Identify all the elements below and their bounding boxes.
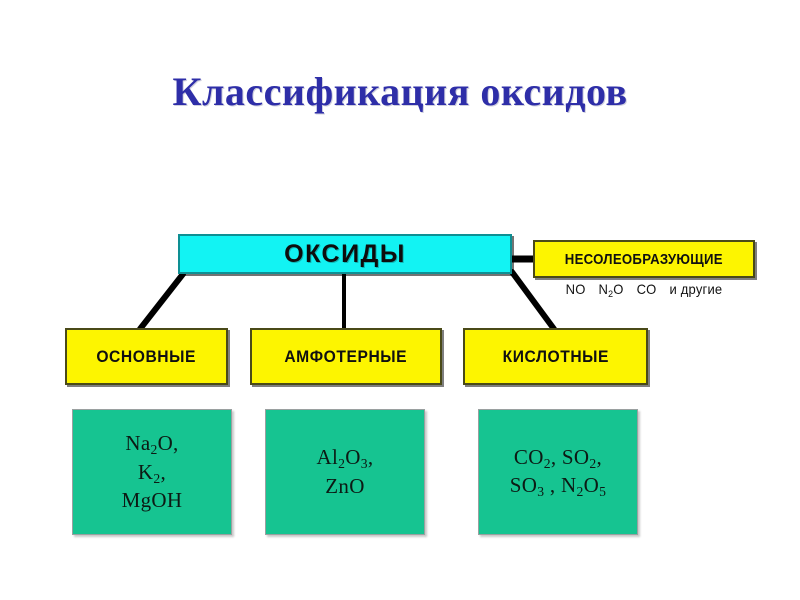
example-box-basic: Na2O, K2, MgOH [72, 409, 232, 535]
non-salt-forming-examples: NON2OCOи другие [541, 281, 747, 300]
connector-root-to-basic [140, 274, 183, 329]
slide-canvas: Классификация оксидов ОКСИДЫ НЕСОЛЕОБРАЗ… [0, 0, 800, 600]
category-box-non-salt-forming[interactable]: НЕСОЛЕОБРАЗУЮЩИЕ [533, 240, 755, 278]
category-label-amphoteric: АМФОТЕРНЫЕ [285, 347, 408, 367]
category-box-basic[interactable]: ОСНОВНЫЕ [65, 328, 228, 385]
example-n2o: N2O [599, 281, 624, 297]
category-label-acidic: КИСЛОТНЫЕ [502, 347, 608, 367]
category-box-amphoteric[interactable]: АМФОТЕРНЫЕ [250, 328, 442, 385]
root-box-oxides[interactable]: ОКСИДЫ [178, 234, 512, 274]
example-others: и другие [670, 281, 723, 297]
root-box-label: ОКСИДЫ [284, 240, 406, 269]
category-label-basic: ОСНОВНЫЕ [97, 347, 197, 367]
example-formulas-basic: Na2O, K2, MgOH [122, 430, 183, 513]
example-co: CO [637, 281, 657, 297]
category-box-acidic[interactable]: КИСЛОТНЫЕ [463, 328, 648, 385]
example-formulas-amphoteric: Al2O3, ZnO [317, 444, 374, 499]
example-box-acidic: CO2, SO2, SO3 , N2O5 [478, 409, 638, 535]
example-no: NO [566, 281, 586, 297]
page-title: Классификация оксидов [0, 68, 800, 115]
category-label-non-salt-forming: НЕСОЛЕОБРАЗУЮЩИЕ [565, 251, 723, 268]
example-box-amphoteric: Al2O3, ZnO [265, 409, 425, 535]
example-formulas-acidic: CO2, SO2, SO3 , N2O5 [510, 444, 606, 501]
